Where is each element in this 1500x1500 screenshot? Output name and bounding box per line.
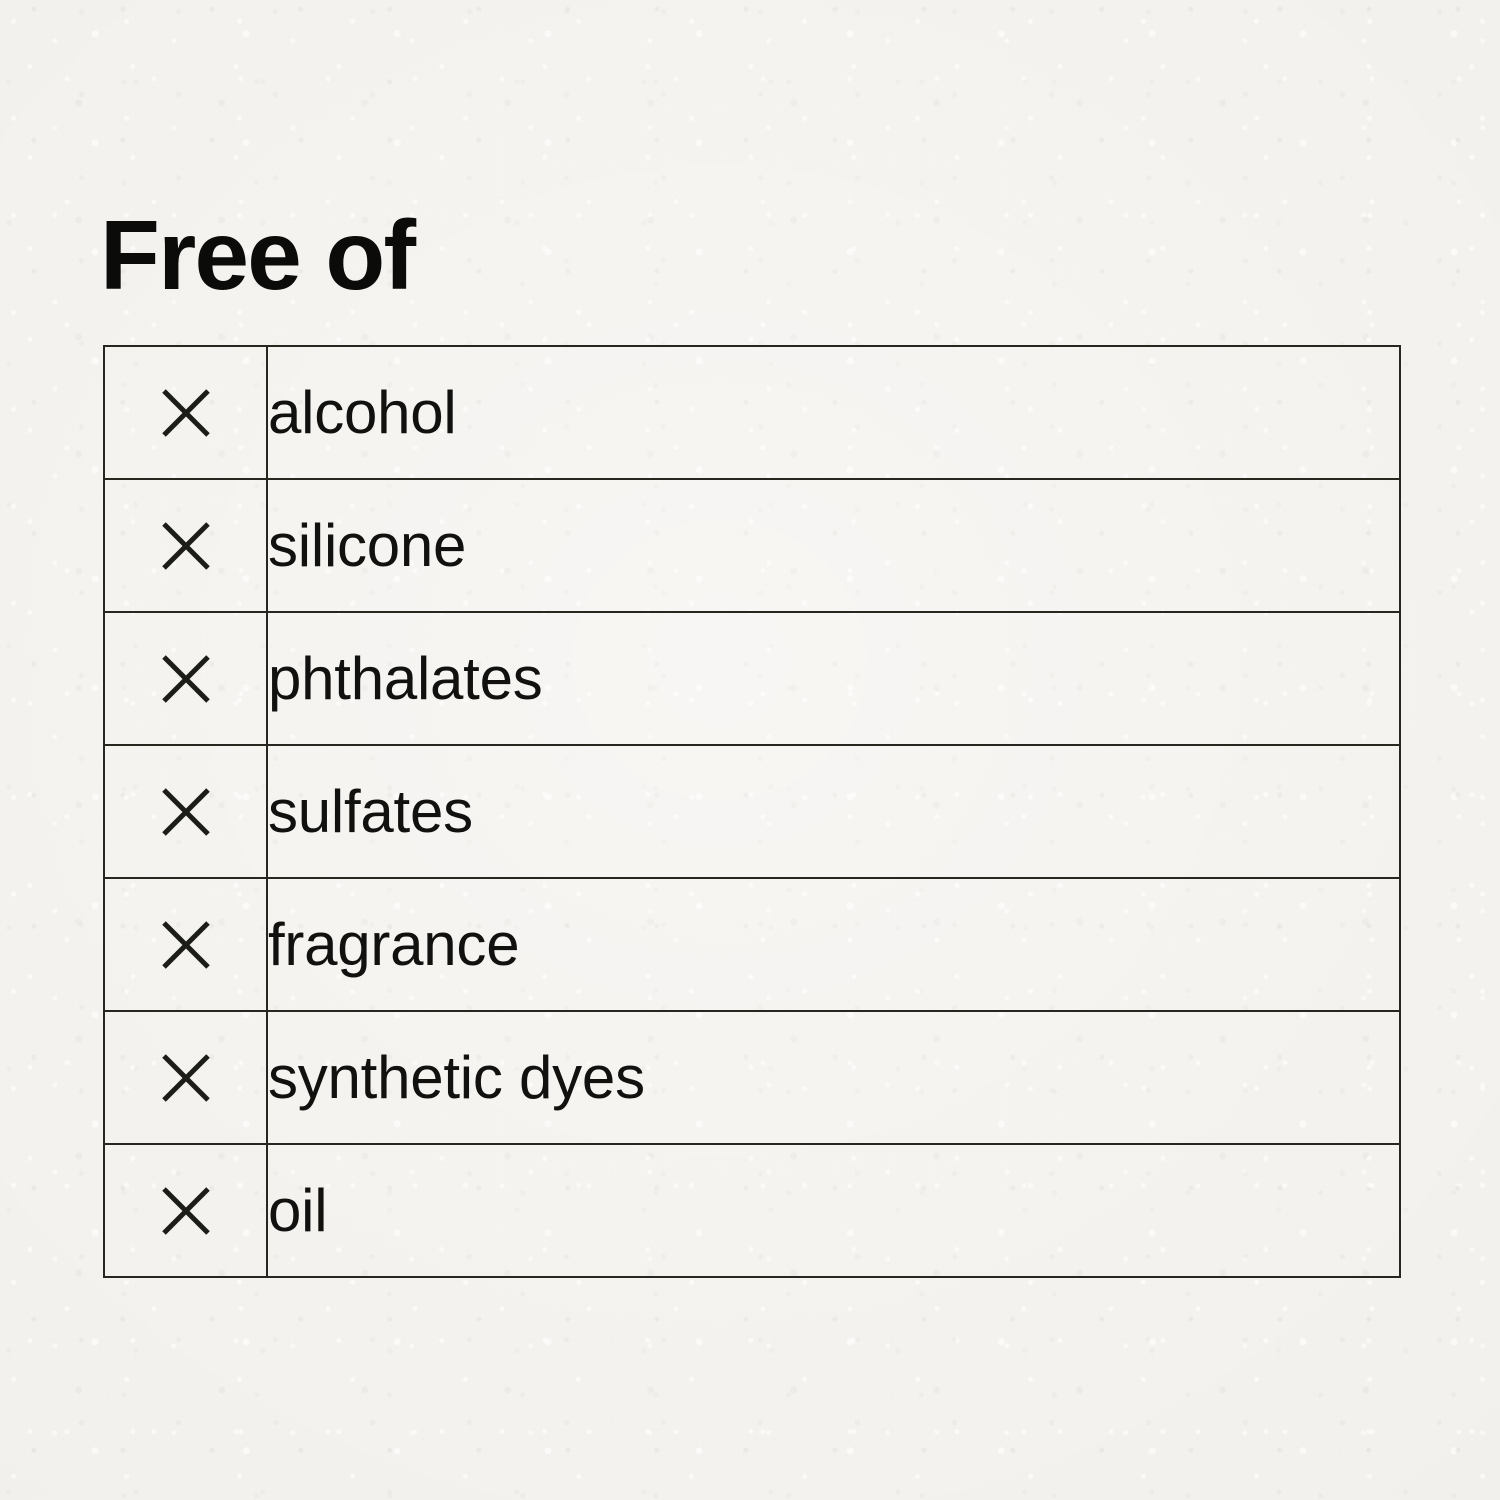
ingredient-label: synthetic dyes [268, 1044, 645, 1111]
x-mark-icon [160, 1185, 212, 1237]
label-cell: alcohol [267, 346, 1400, 479]
content-area: Free of alcohol [0, 0, 1500, 1500]
ingredient-label: silicone [268, 512, 466, 579]
ingredient-label: sulfates [268, 778, 473, 845]
ingredient-label: fragrance [268, 911, 519, 978]
label-cell: silicone [267, 479, 1400, 612]
table-row: phthalates [104, 612, 1400, 745]
label-cell: phthalates [267, 612, 1400, 745]
ingredient-label: phthalates [268, 645, 543, 712]
ingredient-label: oil [268, 1177, 327, 1244]
mark-cell [104, 479, 267, 612]
table-row: synthetic dyes [104, 1011, 1400, 1144]
mark-cell [104, 346, 267, 479]
free-of-table: alcohol silicone [103, 345, 1401, 1278]
x-mark-icon [160, 919, 212, 971]
label-cell: synthetic dyes [267, 1011, 1400, 1144]
x-mark-icon [160, 387, 212, 439]
mark-cell [104, 612, 267, 745]
mark-cell [104, 745, 267, 878]
page-title: Free of [100, 206, 414, 304]
x-mark-icon [160, 1052, 212, 1104]
table-row: fragrance [104, 878, 1400, 1011]
x-mark-icon [160, 786, 212, 838]
ingredient-label: alcohol [268, 379, 456, 446]
x-mark-icon [160, 520, 212, 572]
table-row: alcohol [104, 346, 1400, 479]
label-cell: fragrance [267, 878, 1400, 1011]
table-row: silicone [104, 479, 1400, 612]
mark-cell [104, 878, 267, 1011]
label-cell: sulfates [267, 745, 1400, 878]
mark-cell [104, 1144, 267, 1277]
page-root: Free of alcohol [0, 0, 1500, 1500]
free-of-table-body: alcohol silicone [104, 346, 1400, 1277]
label-cell: oil [267, 1144, 1400, 1277]
mark-cell [104, 1011, 267, 1144]
x-mark-icon [160, 653, 212, 705]
table-row: oil [104, 1144, 1400, 1277]
table-row: sulfates [104, 745, 1400, 878]
